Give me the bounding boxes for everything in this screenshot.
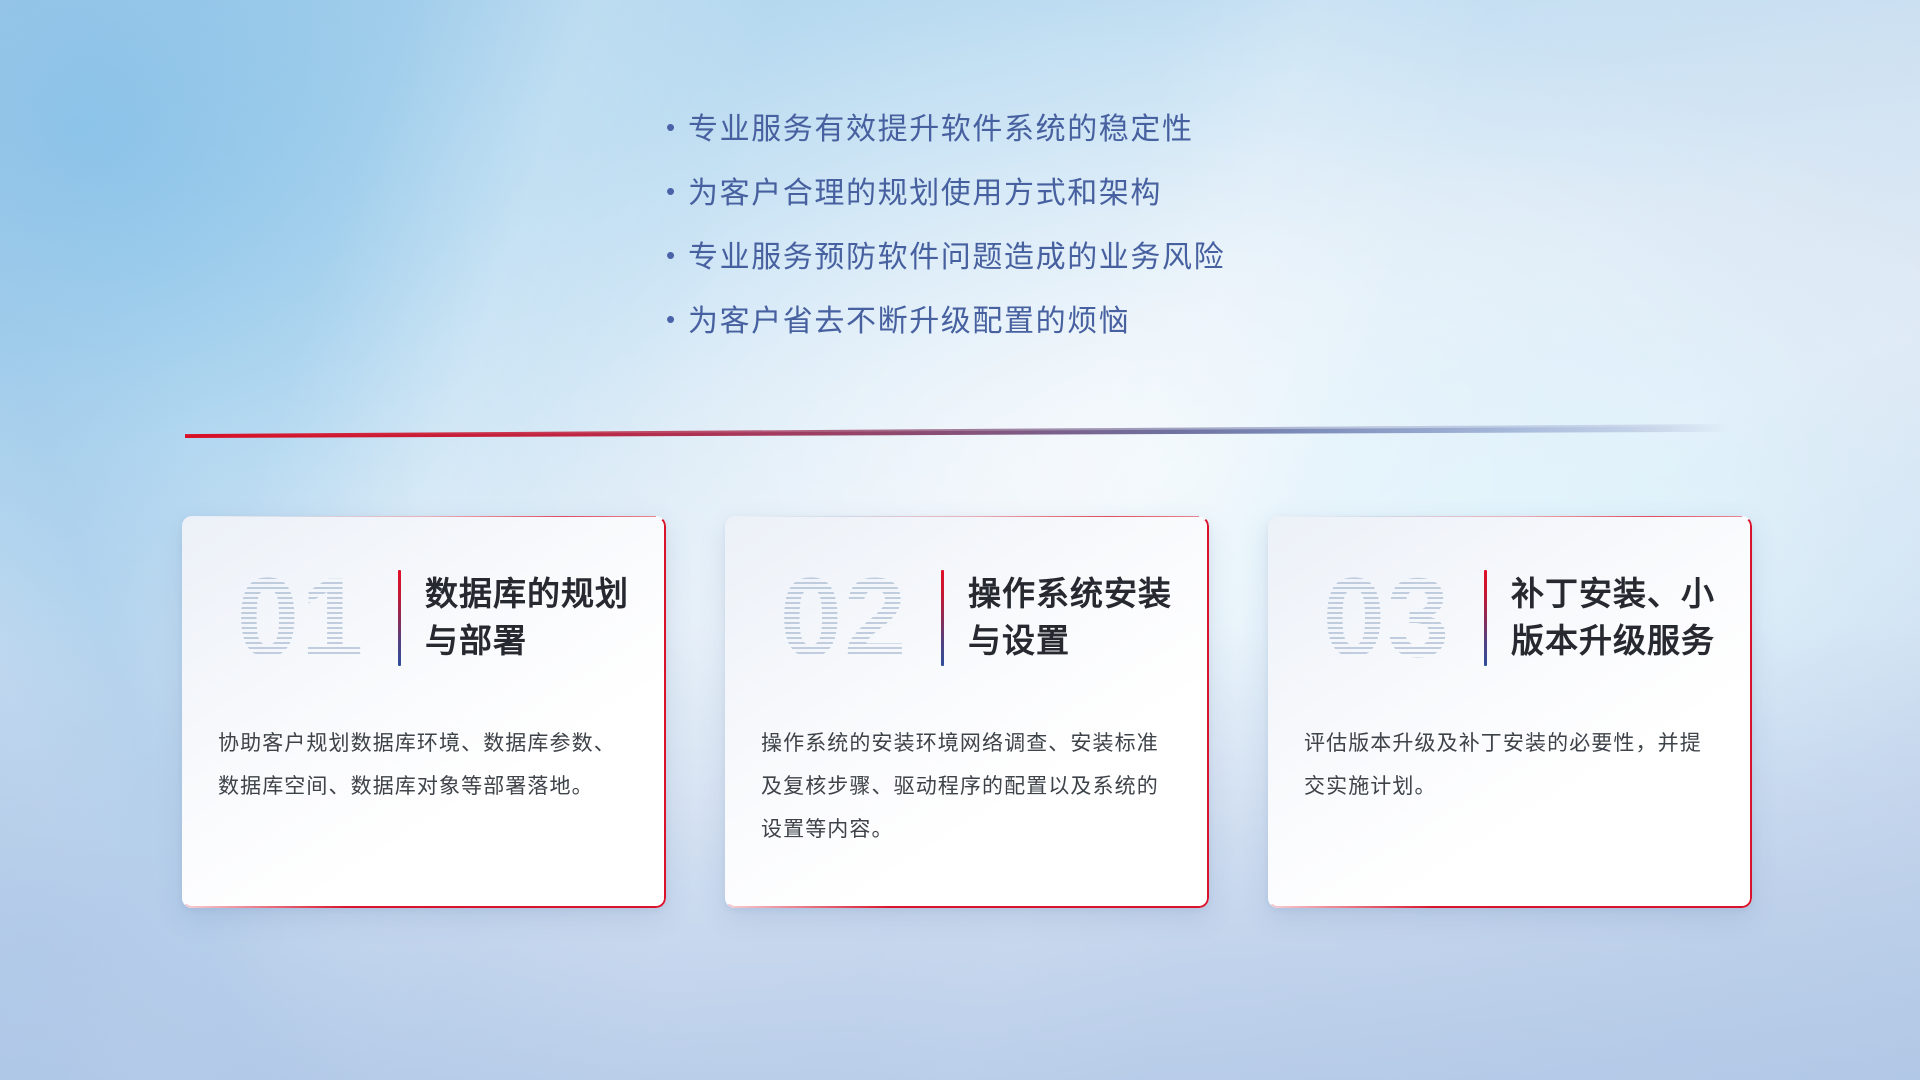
card-header: 02 操作系统安装与设置 — [725, 538, 1209, 698]
bullet-point-icon: • — [666, 114, 688, 140]
bullet-label: 为客户合理的规划使用方式和架构 — [688, 168, 1162, 212]
card-number: 01 — [210, 562, 392, 674]
bullet-label: 为客户省去不断升级配置的烦恼 — [688, 296, 1130, 340]
card-divider-rule — [1484, 570, 1487, 666]
card-top-hairline — [735, 516, 1199, 517]
service-card-01[interactable]: 01 数据库的规划与部署 协助客户规划数据库环境、数据库参数、数据库空间、数据库… — [182, 516, 666, 908]
service-card-row: 01 数据库的规划与部署 协助客户规划数据库环境、数据库参数、数据库空间、数据库… — [182, 516, 1752, 908]
card-divider-rule — [941, 570, 944, 666]
card-header: 03 补丁安装、小版本升级服务 — [1268, 538, 1752, 698]
section-divider — [185, 424, 1730, 438]
card-description: 协助客户规划数据库环境、数据库参数、数据库空间、数据库对象等部署落地。 — [218, 722, 636, 808]
bullet-item-4: • 为客户省去不断升级配置的烦恼 — [666, 296, 1566, 360]
card-top-hairline — [1278, 516, 1742, 517]
card-description: 操作系统的安装环境网络调查、安装标准及复核步骤、驱动程序的配置以及系统的设置等内… — [761, 722, 1179, 851]
slide-canvas: • 专业服务有效提升软件系统的稳定性 • 为客户合理的规划使用方式和架构 • 专… — [0, 0, 1920, 1080]
card-number: 02 — [753, 562, 935, 674]
service-card-02[interactable]: 02 操作系统安装与设置 操作系统的安装环境网络调查、安装标准及复核步骤、驱动程… — [725, 516, 1209, 908]
bullet-point-icon: • — [666, 306, 688, 332]
service-card-03[interactable]: 03 补丁安装、小版本升级服务 评估版本升级及补丁安装的必要性，并提交实施计划。 — [1268, 516, 1752, 908]
bullet-label: 专业服务有效提升软件系统的稳定性 — [688, 104, 1194, 148]
card-top-hairline — [192, 516, 656, 517]
card-header: 01 数据库的规划与部署 — [182, 538, 666, 698]
bullet-item-3: • 专业服务预防软件问题造成的业务风险 — [666, 232, 1566, 296]
bullet-item-2: • 为客户合理的规划使用方式和架构 — [666, 168, 1566, 232]
card-title: 操作系统安装与设置 — [968, 571, 1200, 665]
card-description: 评估版本升级及补丁安装的必要性，并提交实施计划。 — [1304, 722, 1722, 808]
bullet-point-icon: • — [666, 178, 688, 204]
card-title: 数据库的规划与部署 — [425, 571, 657, 665]
bullet-item-1: • 专业服务有效提升软件系统的稳定性 — [666, 104, 1566, 168]
card-divider-rule — [398, 570, 401, 666]
benefits-bullet-list: • 专业服务有效提升软件系统的稳定性 • 为客户合理的规划使用方式和架构 • 专… — [666, 104, 1566, 360]
card-number: 03 — [1296, 562, 1478, 674]
bullet-point-icon: • — [666, 242, 688, 268]
bullet-label: 专业服务预防软件问题造成的业务风险 — [688, 232, 1225, 276]
card-title: 补丁安装、小版本升级服务 — [1511, 571, 1743, 665]
